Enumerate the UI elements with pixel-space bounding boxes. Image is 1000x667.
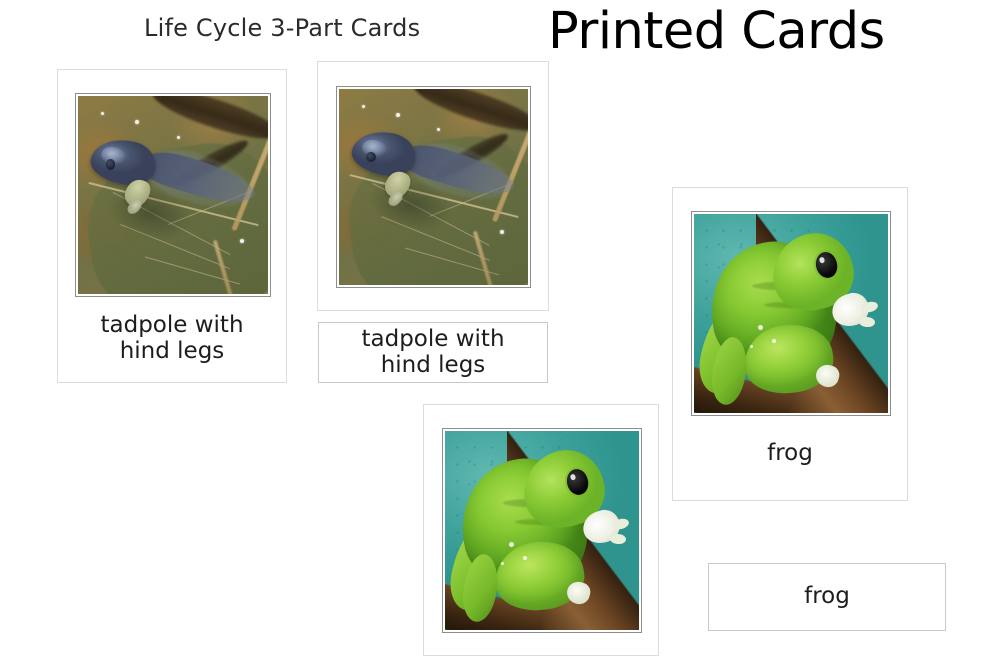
card-frog-picture-only[interactable]: [423, 404, 659, 656]
frog-photo-frame: [442, 428, 642, 633]
tadpole-scene: [78, 96, 268, 294]
water-bubble: [500, 230, 504, 234]
card-tadpole-label-only[interactable]: tadpole with hind legs: [318, 322, 548, 383]
page-title: Printed Cards: [548, 2, 885, 61]
label-line-1: tadpole with: [361, 327, 504, 353]
water-bubble: [101, 112, 104, 115]
card-label-line-1: tadpole with: [58, 313, 286, 339]
label-text: frog: [804, 584, 850, 610]
water-bubble: [396, 113, 400, 117]
tadpole-eye: [106, 159, 116, 169]
card-frog-picture-and-label[interactable]: frog: [672, 187, 908, 501]
card-label-tadpole: tadpole with hind legs: [58, 313, 286, 365]
water-bubble: [135, 120, 139, 124]
tadpole-photo-frame: [75, 93, 271, 297]
card-label-frog: frog: [673, 441, 907, 467]
submerged-branch: [410, 89, 528, 140]
water-bubble: [362, 105, 365, 108]
subject-title: Life Cycle 3-Part Cards: [144, 14, 420, 42]
green-tree-frog-photo: [694, 214, 888, 413]
label-text-block: tadpole with hind legs: [361, 327, 504, 379]
label-line-2: hind legs: [361, 353, 504, 379]
tadpole-photo-frame: [336, 86, 531, 288]
tadpole-scene: [339, 89, 528, 285]
water-bubble: [177, 136, 180, 139]
card-label-text: frog: [673, 441, 907, 467]
green-tree-frog-photo: [445, 431, 639, 630]
water-bubble: [240, 239, 244, 243]
card-label-line-2: hind legs: [58, 339, 286, 365]
frog-photo-frame: [691, 211, 891, 416]
card-tadpole-picture-only[interactable]: [317, 61, 549, 311]
tadpole-with-hind-legs-photo: [339, 89, 528, 285]
card-tadpole-picture-and-label[interactable]: tadpole with hind legs: [57, 69, 287, 383]
water-bubble: [437, 128, 440, 131]
frog-scene: [694, 214, 888, 413]
submerged-branch: [149, 96, 268, 148]
tadpole-with-hind-legs-photo: [78, 96, 268, 294]
frog-scene: [445, 431, 639, 630]
card-frog-label-only[interactable]: frog: [708, 563, 946, 631]
tadpole-eye: [366, 152, 375, 162]
